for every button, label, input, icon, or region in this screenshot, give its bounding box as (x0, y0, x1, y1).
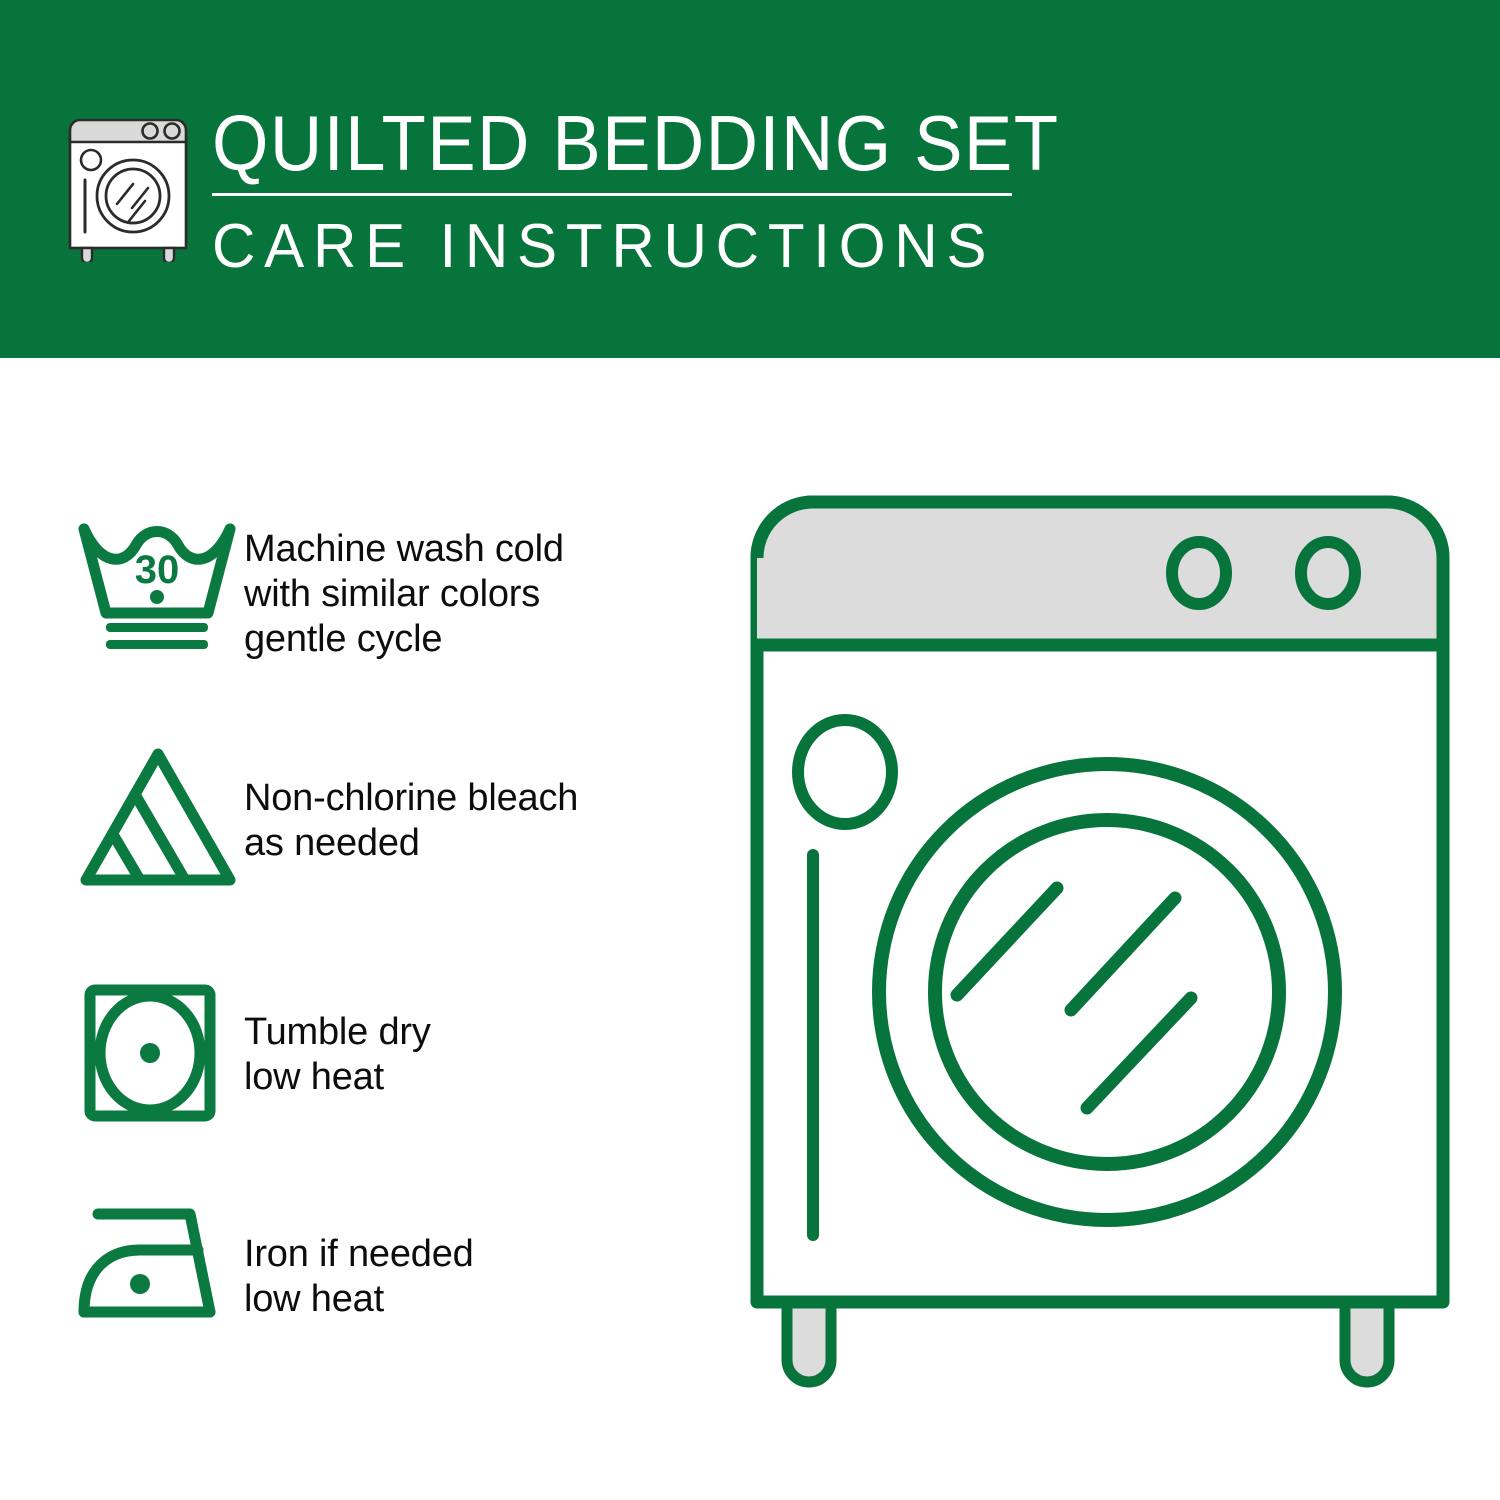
header-text-block: QUILTED BEDDING SET CARE INSTRUCTIONS (212, 100, 1022, 282)
washing-machine-illustration (735, 480, 1465, 1430)
bleach-triangle-icon (72, 740, 244, 892)
header-band: QUILTED BEDDING SET CARE INSTRUCTIONS (0, 0, 1500, 358)
page-subtitle: CARE INSTRUCTIONS (212, 212, 998, 282)
care-instruction-item: 30 Machine wash cold with similar colors… (72, 513, 692, 662)
control-panel (757, 502, 1443, 645)
wash-temperature-label: 30 (135, 548, 180, 592)
page-title: QUILTED BEDDING SET (212, 100, 965, 186)
care-instruction-text: Machine wash cold with similar colors ge… (244, 513, 692, 662)
title-divider (212, 193, 1012, 196)
care-instruction-item: Iron if needed low heat (72, 1198, 692, 1328)
washing-machine-icon (62, 104, 212, 262)
care-instruction-list: 30 Machine wash cold with similar colors… (0, 358, 720, 1500)
care-instruction-item: Tumble dry low heat (72, 978, 692, 1128)
care-instructions-page: QUILTED BEDDING SET CARE INSTRUCTIONS 30 (0, 0, 1500, 1500)
tumble-dry-icon (72, 978, 244, 1128)
iron-icon (72, 1198, 244, 1328)
care-instruction-text: Non-chlorine bleach as needed (244, 740, 692, 866)
care-instruction-item: Non-chlorine bleach as needed (72, 740, 692, 892)
care-instruction-text: Tumble dry low heat (244, 978, 692, 1100)
wash-tub-icon: 30 (72, 513, 244, 653)
care-instruction-text: Iron if needed low heat (244, 1198, 692, 1322)
